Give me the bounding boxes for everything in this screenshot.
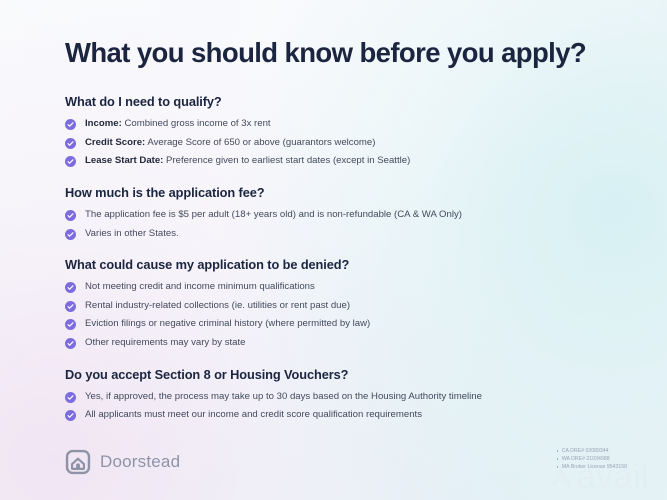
check-circle-icon [65, 138, 76, 149]
license-item: CA DRE# 02089344 [557, 447, 627, 455]
license-list: CA DRE# 02089344 WA DRE# 21034988 MA Bro… [557, 447, 627, 471]
license-item: WA DRE# 21034988 [557, 455, 627, 463]
section-denial-reasons: What could cause my application to be de… [65, 257, 627, 349]
bullet-dot-icon [557, 458, 559, 460]
house-icon [65, 449, 91, 475]
list-item-text: Varies in other States. [85, 228, 179, 241]
list-item: Yes, if approved, the process may take u… [65, 391, 627, 404]
brand-name: Doorstead [100, 452, 180, 472]
list-item-body: Rental industry-related collections (ie.… [85, 300, 350, 311]
list-item-body: Preference given to earliest start dates… [163, 155, 410, 166]
list-item-body: Average Score of 650 or above (guarantor… [145, 137, 375, 148]
check-circle-icon [65, 282, 76, 293]
section-heading: What could cause my application to be de… [65, 257, 627, 272]
list-item: All applicants must meet our income and … [65, 409, 627, 422]
list-item-text: Not meeting credit and income minimum qu… [85, 281, 315, 294]
slide-canvas: What you should know before you apply? W… [0, 0, 667, 500]
check-circle-icon [65, 392, 76, 403]
list-item: Varies in other States. [65, 228, 627, 241]
slide-footer: Doorstead CA DRE# 02089344 WA DRE# 21034… [65, 447, 627, 475]
bullet-list: Income: Combined gross income of 3x rent… [65, 118, 627, 168]
license-text: MA Broker License 9543158 [562, 463, 627, 471]
license-item: MA Broker License 9543158 [557, 463, 627, 471]
check-circle-icon [65, 210, 76, 221]
list-item-text: Yes, if approved, the process may take u… [85, 391, 482, 404]
check-circle-icon [65, 156, 76, 167]
check-circle-icon [65, 410, 76, 421]
list-item-lead: Income: [85, 118, 122, 129]
check-circle-icon [65, 301, 76, 312]
list-item-body: All applicants must meet our income and … [85, 409, 422, 420]
list-item-body: Yes, if approved, the process may take u… [85, 391, 482, 402]
list-item-body: Varies in other States. [85, 228, 179, 239]
list-item-lead: Credit Score: [85, 137, 145, 148]
brand-lockup: Doorstead [65, 449, 180, 475]
check-circle-icon [65, 338, 76, 349]
list-item-text: Credit Score: Average Score of 650 or ab… [85, 137, 375, 150]
section-application-fee: How much is the application fee? The app… [65, 185, 627, 240]
bullet-list: The application fee is $5 per adult (18+… [65, 209, 627, 240]
list-item-body: Combined gross income of 3x rent [122, 118, 271, 129]
list-item-text: Eviction filings or negative criminal hi… [85, 318, 370, 331]
list-item: Credit Score: Average Score of 650 or ab… [65, 137, 627, 150]
bullet-list: Yes, if approved, the process may take u… [65, 391, 627, 422]
section-heading: Do you accept Section 8 or Housing Vouch… [65, 367, 627, 382]
list-item-lead: Lease Start Date: [85, 155, 163, 166]
list-item-text: The application fee is $5 per adult (18+… [85, 209, 462, 222]
list-item: The application fee is $5 per adult (18+… [65, 209, 627, 222]
list-item: Lease Start Date: Preference given to ea… [65, 155, 627, 168]
list-item-body: Not meeting credit and income minimum qu… [85, 281, 315, 292]
list-item-text: Rental industry-related collections (ie.… [85, 300, 350, 313]
list-item: Not meeting credit and income minimum qu… [65, 281, 627, 294]
list-item: Eviction filings or negative criminal hi… [65, 318, 627, 331]
section-heading: What do I need to qualify? [65, 94, 627, 109]
bullet-dot-icon [557, 466, 559, 468]
list-item-text: Other requirements may vary by state [85, 337, 246, 350]
bullet-dot-icon [557, 450, 559, 452]
check-circle-icon [65, 229, 76, 240]
check-circle-icon [65, 119, 76, 130]
slide-content: What you should know before you apply? W… [65, 38, 627, 439]
list-item-body: Other requirements may vary by state [85, 337, 246, 348]
license-text: CA DRE# 02089344 [562, 447, 609, 455]
section-qualify: What do I need to qualify? Income: Combi… [65, 94, 627, 168]
bullet-list: Not meeting credit and income minimum qu… [65, 281, 627, 349]
list-item-text: Income: Combined gross income of 3x rent [85, 118, 271, 131]
list-item-body: Eviction filings or negative criminal hi… [85, 318, 370, 329]
section-section8-vouchers: Do you accept Section 8 or Housing Vouch… [65, 367, 627, 422]
section-heading: How much is the application fee? [65, 185, 627, 200]
list-item: Rental industry-related collections (ie.… [65, 300, 627, 313]
list-item: Other requirements may vary by state [65, 337, 627, 350]
list-item: Income: Combined gross income of 3x rent [65, 118, 627, 131]
list-item-text: Lease Start Date: Preference given to ea… [85, 155, 410, 168]
license-text: WA DRE# 21034988 [562, 455, 610, 463]
page-title: What you should know before you apply? [65, 38, 627, 68]
list-item-text: All applicants must meet our income and … [85, 409, 422, 422]
check-circle-icon [65, 319, 76, 330]
list-item-body: The application fee is $5 per adult (18+… [85, 209, 462, 220]
